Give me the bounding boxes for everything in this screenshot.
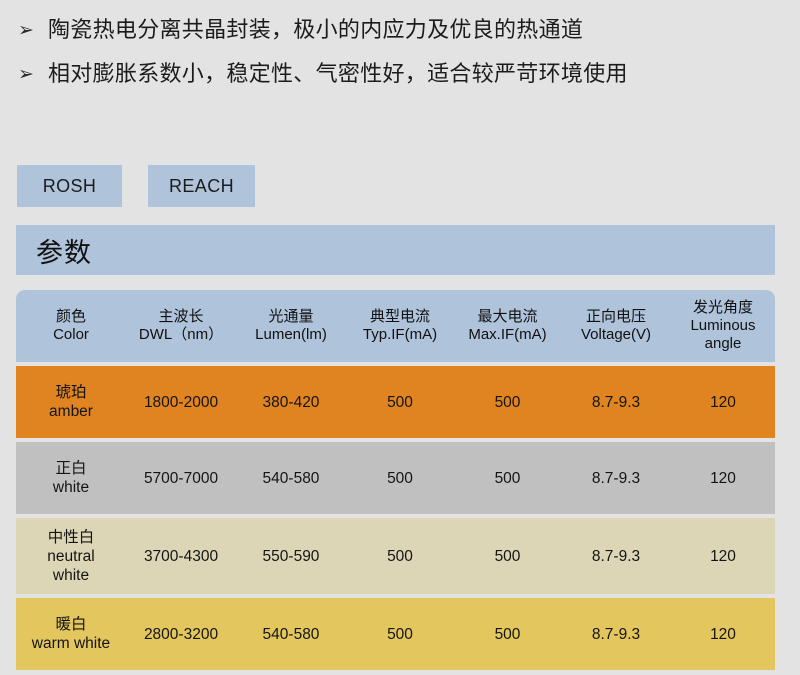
column-header-max-current: 最大电流 Max.IF(mA) [454,290,561,362]
status-badge-rosh: ROSH [17,165,122,207]
column-header-forward-voltage: 正向电压 Voltage(V) [561,290,671,362]
table-row: 暖白 warm white 2800-3200 540-580 500 500 … [16,598,775,670]
table-row: 正白 white 5700-7000 540-580 500 500 8.7-9… [16,442,775,514]
cell-max-current: 500 [454,366,561,438]
list-item: ➢ 陶瓷热电分离共晶封装，极小的内应力及优良的热通道 [0,8,800,52]
column-header-lumen: 光通量 Lumen(lm) [236,290,346,362]
page-title: 参数 [16,231,92,270]
table-header-row: 颜色 Color 主波长 DWL（nm） 光通量 Lumen(lm) 典型电流 … [16,290,775,362]
cell-max-current: 500 [454,442,561,514]
cell-luminous-angle: 120 [671,518,775,594]
column-header-dwl: 主波长 DWL（nm） [126,290,236,362]
cell-luminous-angle: 120 [671,598,775,670]
cell-typical-current: 500 [346,518,454,594]
cell-forward-voltage: 8.7-9.3 [561,366,671,438]
column-header-color: 颜色 Color [16,290,126,362]
cell-dwl: 5700-7000 [126,442,236,514]
cell-luminous-angle: 120 [671,442,775,514]
column-header-luminous-angle: 发光角度 Luminous angle [671,290,775,362]
cell-dwl: 3700-4300 [126,518,236,594]
cell-color: 中性白 neutral white [16,518,126,594]
cell-max-current: 500 [454,518,561,594]
cell-dwl: 1800-2000 [126,366,236,438]
cell-typical-current: 500 [346,598,454,670]
cell-luminous-angle: 120 [671,366,775,438]
cell-forward-voltage: 8.7-9.3 [561,442,671,514]
section-header-bar: 参数 [16,225,775,275]
cell-color: 暖白 warm white [16,598,126,670]
table-row: 中性白 neutral white 3700-4300 550-590 500 … [16,518,775,594]
cell-dwl: 2800-3200 [126,598,236,670]
cell-max-current: 500 [454,598,561,670]
table-row: 琥珀 amber 1800-2000 380-420 500 500 8.7-9… [16,366,775,438]
cell-lumen: 380-420 [236,366,346,438]
cell-lumen: 540-580 [236,442,346,514]
list-item: ➢ 相对膨胀系数小，稳定性、气密性好，适合较严苛环境使用 [0,52,800,96]
cell-typical-current: 500 [346,442,454,514]
cell-color: 琥珀 amber [16,366,126,438]
certification-badge-group: ROSH REACH [17,165,255,207]
bullet-text: 陶瓷热电分离共晶封装，极小的内应力及优良的热通道 [48,8,583,52]
cell-typical-current: 500 [346,366,454,438]
bullet-text: 相对膨胀系数小，稳定性、气密性好，适合较严苛环境使用 [48,52,628,96]
cell-lumen: 540-580 [236,598,346,670]
feature-bullet-list: ➢ 陶瓷热电分离共晶封装，极小的内应力及优良的热通道 ➢ 相对膨胀系数小，稳定性… [0,8,800,96]
cell-forward-voltage: 8.7-9.3 [561,598,671,670]
arrow-bullet-icon: ➢ [18,52,48,96]
cell-color: 正白 white [16,442,126,514]
cell-forward-voltage: 8.7-9.3 [561,518,671,594]
status-badge-reach: REACH [148,165,255,207]
column-header-typical-current: 典型电流 Typ.IF(mA) [346,290,454,362]
cell-lumen: 550-590 [236,518,346,594]
parameter-table: 颜色 Color 主波长 DWL（nm） 光通量 Lumen(lm) 典型电流 … [16,290,775,670]
arrow-bullet-icon: ➢ [18,8,48,52]
